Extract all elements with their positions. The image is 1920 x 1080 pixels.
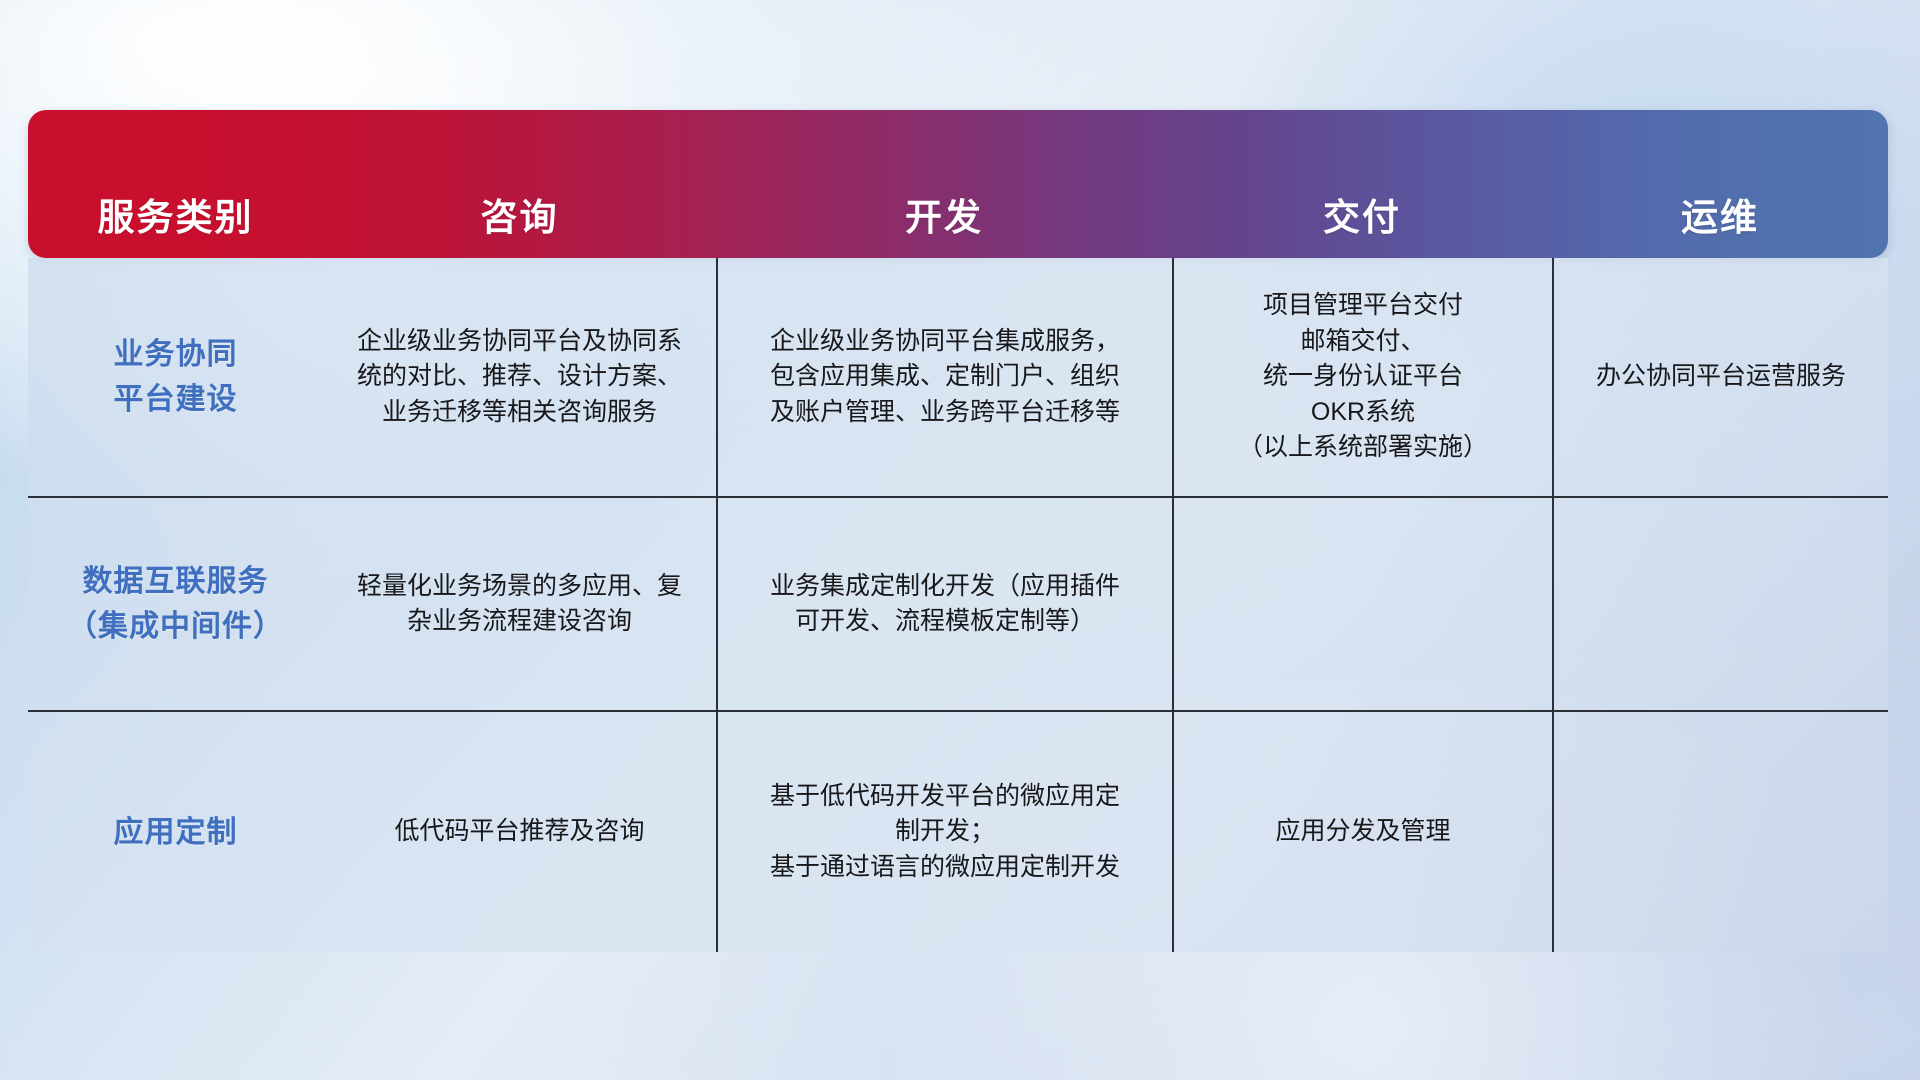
cell-text: 企业级业务协同平台集成服务， 包含应用集成、定制门户、组织 及账户管理、业务跨平… bbox=[770, 324, 1120, 431]
table-row: 应用定制 低代码平台推荐及咨询 基于低代码开发平台的微应用定 制开发； 基于通过… bbox=[28, 710, 1888, 952]
cell-category: 业务协同 平台建设 bbox=[28, 258, 323, 496]
table-body: 业务协同 平台建设 企业级业务协同平台及协同系 统的对比、推荐、设计方案、 业务… bbox=[28, 258, 1888, 952]
cell-text: 低代码平台推荐及咨询 bbox=[394, 814, 644, 850]
cell-text: 办公协同平台运营服务 bbox=[1596, 359, 1846, 395]
cell-category: 应用定制 bbox=[28, 712, 323, 952]
cell-development: 企业级业务协同平台集成服务， 包含应用集成、定制门户、组织 及账户管理、业务跨平… bbox=[716, 258, 1172, 496]
cell-operations bbox=[1552, 712, 1888, 952]
category-label: 业务协同 平台建设 bbox=[114, 332, 238, 422]
category-label: 数据互联服务 （集成中间件） bbox=[67, 559, 284, 649]
cell-text: 应用分发及管理 bbox=[1275, 814, 1450, 850]
cell-delivery bbox=[1172, 498, 1552, 710]
table-row: 业务协同 平台建设 企业级业务协同平台及协同系 统的对比、推荐、设计方案、 业务… bbox=[28, 258, 1888, 496]
cell-development: 基于低代码开发平台的微应用定 制开发； 基于通过语言的微应用定制开发 bbox=[716, 712, 1172, 952]
cell-text: 企业级业务协同平台及协同系 统的对比、推荐、设计方案、 业务迁移等相关咨询服务 bbox=[357, 324, 682, 431]
column-header-category: 服务类别 bbox=[28, 110, 323, 258]
column-header-development: 开发 bbox=[716, 110, 1172, 258]
cell-text: 业务集成定制化开发（应用插件 可开发、流程模板定制等） bbox=[770, 569, 1120, 640]
column-header-delivery: 交付 bbox=[1172, 110, 1552, 258]
category-label: 应用定制 bbox=[114, 810, 238, 855]
column-header-consulting: 咨询 bbox=[323, 110, 716, 258]
cell-development: 业务集成定制化开发（应用插件 可开发、流程模板定制等） bbox=[716, 498, 1172, 710]
table-row: 数据互联服务 （集成中间件） 轻量化业务场景的多应用、复 杂业务流程建设咨询 业… bbox=[28, 496, 1888, 710]
cell-consulting: 轻量化业务场景的多应用、复 杂业务流程建设咨询 bbox=[323, 498, 716, 710]
cell-operations bbox=[1552, 498, 1888, 710]
cell-consulting: 企业级业务协同平台及协同系 统的对比、推荐、设计方案、 业务迁移等相关咨询服务 bbox=[323, 258, 716, 496]
service-category-table: 服务类别 咨询 开发 交付 运维 业务协同 平台建设 企业级业务协同平台及协同系… bbox=[28, 110, 1888, 952]
cell-operations: 办公协同平台运营服务 bbox=[1552, 258, 1888, 496]
table-header-row: 服务类别 咨询 开发 交付 运维 bbox=[28, 110, 1888, 258]
cell-text: 轻量化业务场景的多应用、复 杂业务流程建设咨询 bbox=[357, 569, 682, 640]
cell-category: 数据互联服务 （集成中间件） bbox=[28, 498, 323, 710]
cell-delivery: 应用分发及管理 bbox=[1172, 712, 1552, 952]
cell-text: 项目管理平台交付 邮箱交付、 统一身份认证平台 OKR系统 （以上系统部署实施） bbox=[1238, 288, 1488, 466]
cell-delivery: 项目管理平台交付 邮箱交付、 统一身份认证平台 OKR系统 （以上系统部署实施） bbox=[1172, 258, 1552, 496]
cell-consulting: 低代码平台推荐及咨询 bbox=[323, 712, 716, 952]
column-header-operations: 运维 bbox=[1552, 110, 1888, 258]
cell-text: 基于低代码开发平台的微应用定 制开发； 基于通过语言的微应用定制开发 bbox=[770, 779, 1120, 886]
